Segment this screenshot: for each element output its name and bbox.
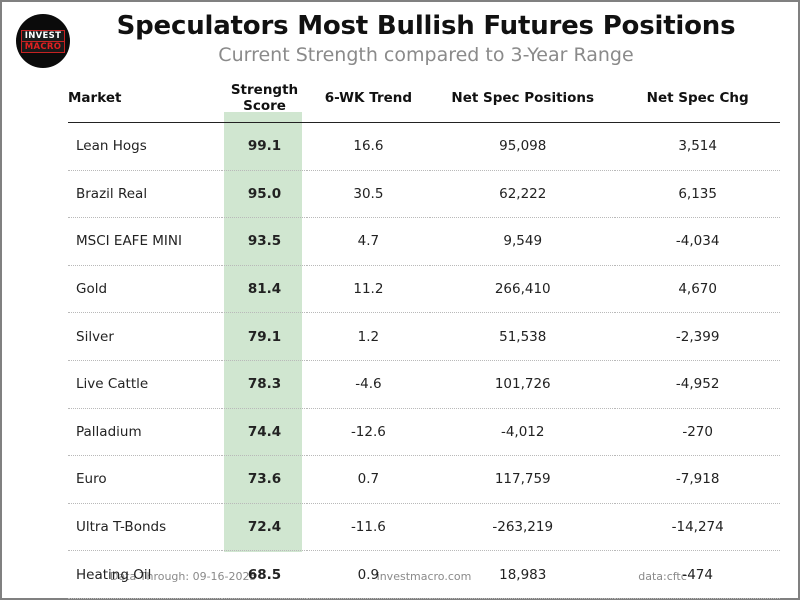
cell-market: Gold (68, 265, 222, 313)
table-row: Silver79.11.251,538-2,399 (68, 313, 780, 361)
report-header: INVEST MACRO Speculators Most Bullish Fu… (2, 2, 798, 80)
cell-6wk-trend: 0.9 (307, 551, 430, 599)
table-body: Lean Hogs99.116.695,0983,514Brazil Real9… (68, 123, 780, 599)
cell-6wk-trend: 11.2 (307, 265, 430, 313)
column-header-strength-score: Strength Score (222, 82, 306, 123)
cell-net-spec-chg: -4,034 (615, 218, 780, 266)
report-card: INVEST MACRO Speculators Most Bullish Fu… (0, 0, 800, 600)
cell-net-spec-positions: 117,759 (430, 456, 615, 504)
cell-market: Ultra T-Bonds (68, 503, 222, 551)
investmacro-logo: INVEST MACRO (16, 14, 70, 68)
cell-market: MSCI EAFE MINI (68, 218, 222, 266)
title-block: Speculators Most Bullish Futures Positio… (76, 10, 776, 67)
table-row: MSCI EAFE MINI93.54.79,549-4,034 (68, 218, 780, 266)
cell-market: Silver (68, 313, 222, 361)
table-row: Ultra T-Bonds72.4-11.6-263,219-14,274 (68, 503, 780, 551)
column-header-net-spec-chg: Net Spec Chg (615, 82, 780, 123)
cell-net-spec-chg: 6,135 (615, 170, 780, 218)
table-row: Live Cattle78.3-4.6101,726-4,952 (68, 360, 780, 408)
table-row: Brazil Real95.030.562,2226,135 (68, 170, 780, 218)
table-row: Euro73.60.7117,759-7,918 (68, 456, 780, 504)
cell-net-spec-positions: 18,983 (430, 551, 615, 599)
table-row: Heating Oil68.50.918,983-474 (68, 551, 780, 599)
logo-macro-text: MACRO (21, 42, 66, 53)
cell-net-spec-positions: -263,219 (430, 503, 615, 551)
page-subtitle: Current Strength compared to 3-Year Rang… (76, 43, 776, 67)
cell-market: Palladium (68, 408, 222, 456)
cell-strength-score: 81.4 (222, 265, 306, 313)
cell-net-spec-positions: 62,222 (430, 170, 615, 218)
cell-net-spec-positions: 51,538 (430, 313, 615, 361)
cell-net-spec-chg: -14,274 (615, 503, 780, 551)
cell-6wk-trend: 4.7 (307, 218, 430, 266)
cell-6wk-trend: -12.6 (307, 408, 430, 456)
table-header: Market Strength Score 6-WK Trend Net Spe… (68, 82, 780, 123)
table-row: Lean Hogs99.116.695,0983,514 (68, 123, 780, 171)
cell-strength-score: 73.6 (222, 456, 306, 504)
cell-strength-score: 78.3 (222, 360, 306, 408)
cell-net-spec-chg: 4,670 (615, 265, 780, 313)
page-title: Speculators Most Bullish Futures Positio… (76, 10, 776, 42)
cell-6wk-trend: 0.7 (307, 456, 430, 504)
column-header-market: Market (68, 82, 222, 123)
table-header-row: Market Strength Score 6-WK Trend Net Spe… (68, 82, 780, 123)
cell-strength-score: 72.4 (222, 503, 306, 551)
cell-net-spec-chg: -2,399 (615, 313, 780, 361)
cell-net-spec-positions: 101,726 (430, 360, 615, 408)
cell-market: Heating Oil (68, 551, 222, 599)
cell-net-spec-positions: 266,410 (430, 265, 615, 313)
cell-6wk-trend: -4.6 (307, 360, 430, 408)
cell-net-spec-positions: 95,098 (430, 123, 615, 171)
logo-invest-text: INVEST (21, 30, 65, 42)
column-header-net-spec-positions: Net Spec Positions (430, 82, 615, 123)
cell-market: Lean Hogs (68, 123, 222, 171)
cell-net-spec-positions: 9,549 (430, 218, 615, 266)
cell-strength-score: 79.1 (222, 313, 306, 361)
cell-strength-score: 74.4 (222, 408, 306, 456)
cell-net-spec-chg: -270 (615, 408, 780, 456)
cell-net-spec-chg: -4,952 (615, 360, 780, 408)
cell-strength-score: 93.5 (222, 218, 306, 266)
cell-net-spec-chg: -7,918 (615, 456, 780, 504)
cell-market: Brazil Real (68, 170, 222, 218)
table-row: Palladium74.4-12.6-4,012-270 (68, 408, 780, 456)
cell-market: Live Cattle (68, 360, 222, 408)
cell-net-spec-chg: -474 (615, 551, 780, 599)
cell-6wk-trend: 16.6 (307, 123, 430, 171)
futures-positions-table: Market Strength Score 6-WK Trend Net Spe… (68, 82, 780, 599)
cell-strength-score: 95.0 (222, 170, 306, 218)
data-table-container: Market Strength Score 6-WK Trend Net Spe… (68, 82, 780, 599)
cell-strength-score: 68.5 (222, 551, 306, 599)
cell-net-spec-positions: -4,012 (430, 408, 615, 456)
cell-6wk-trend: 30.5 (307, 170, 430, 218)
cell-6wk-trend: 1.2 (307, 313, 430, 361)
cell-strength-score: 99.1 (222, 123, 306, 171)
table-row: Gold81.411.2266,4104,670 (68, 265, 780, 313)
cell-market: Euro (68, 456, 222, 504)
cell-net-spec-chg: 3,514 (615, 123, 780, 171)
cell-6wk-trend: -11.6 (307, 503, 430, 551)
column-header-6wk-trend: 6-WK Trend (307, 82, 430, 123)
